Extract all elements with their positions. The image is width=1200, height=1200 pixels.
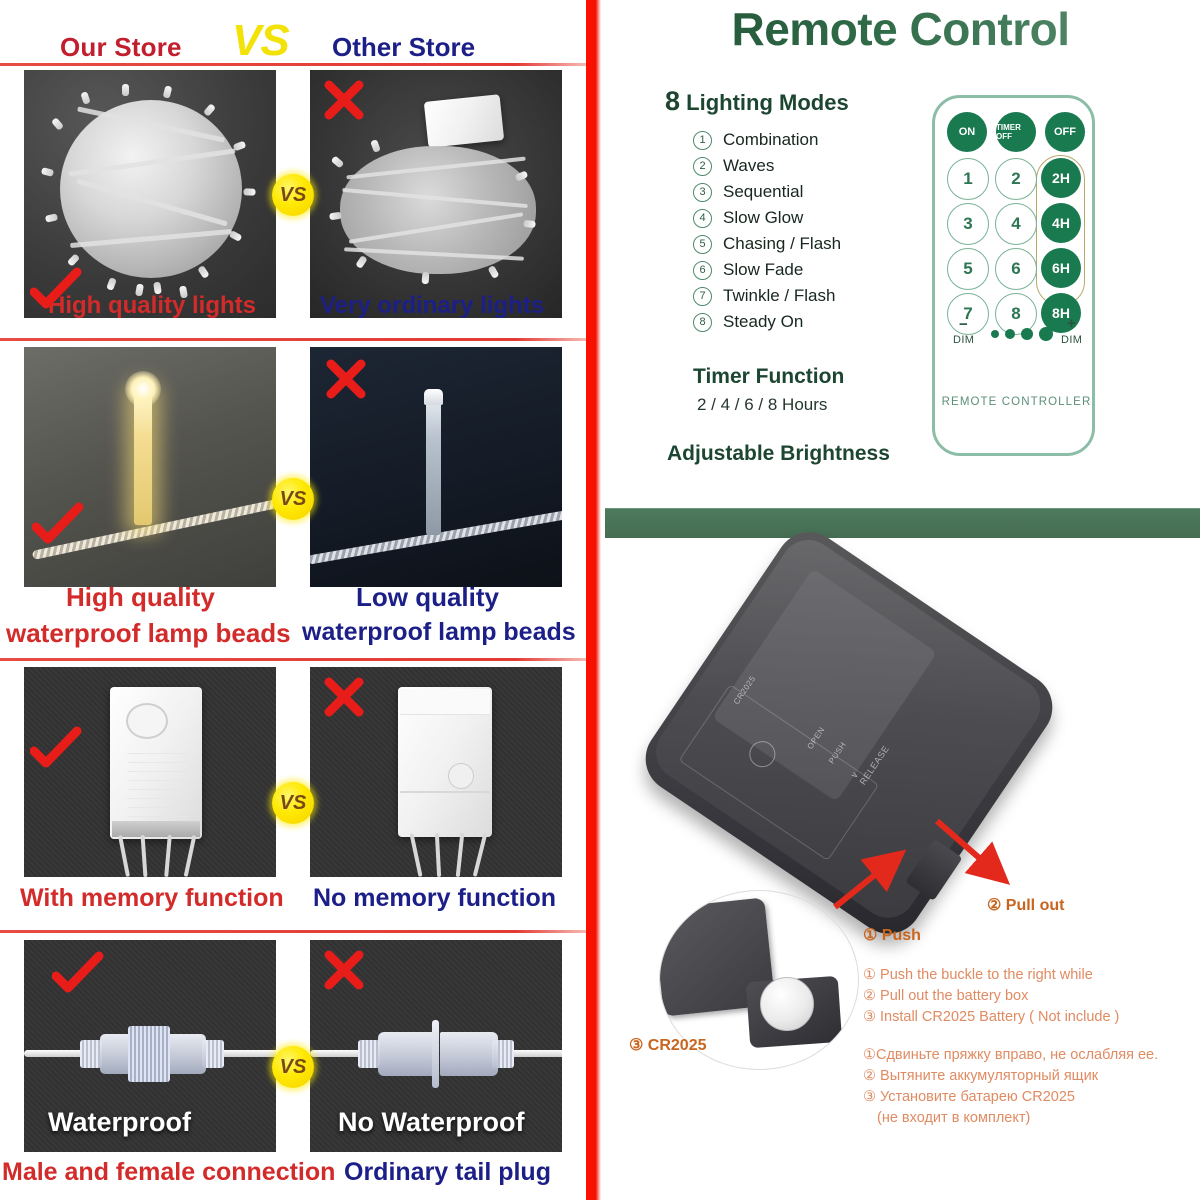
photo-waterproof-connector: Waterproof <box>24 940 276 1152</box>
remote-button-4[interactable]: 4 <box>995 203 1037 245</box>
header-vs-label: VS <box>232 16 289 66</box>
caption-bad-beads-line1: Low quality <box>356 582 499 613</box>
mode-item: 2 Waves <box>693 153 841 179</box>
photo-low-quality-bead <box>310 347 562 587</box>
comparison-row-beads: VS High quality waterproof lamp beads Lo… <box>0 342 586 650</box>
remote-footer-label: REMOTE CONTROLLER <box>935 396 1098 408</box>
remote-button-2[interactable]: 2 <box>995 158 1037 200</box>
vs-badge: VS <box>272 782 314 824</box>
remote-diagram: ON TIMER OFF OFF 1 2 2H 3 4 4H 5 6 6H 7 … <box>932 95 1095 456</box>
mode-number-badge: 5 <box>693 235 712 254</box>
check-mark-icon <box>30 266 82 314</box>
caption-good-beads-line2: waterproof lamp beads <box>6 618 291 649</box>
mode-number-badge: 2 <box>693 157 712 176</box>
cross-mark-icon <box>322 948 366 992</box>
vs-badge: VS <box>272 1046 314 1088</box>
remote-button-6h[interactable]: 6H <box>1041 248 1081 288</box>
remote-button-2h[interactable]: 2H <box>1041 158 1081 198</box>
mode-number-badge: 8 <box>693 313 712 332</box>
instruction-ru-line: ② Вытяните аккумуляторный ящик <box>863 1066 1158 1087</box>
remote-button-4h[interactable]: 4H <box>1041 203 1081 243</box>
our-store-title: Our Store <box>60 32 182 63</box>
mode-number-badge: 4 <box>693 209 712 228</box>
green-section-divider <box>605 508 1200 538</box>
comparison-row-waterproof: Waterproof No Waterproof VS Male and <box>0 934 586 1200</box>
instruction-en-line: ① Push the buckle to the right while <box>863 965 1119 986</box>
comparison-header: Our Store VS Other Store <box>0 10 586 62</box>
row-divider-3 <box>0 658 586 661</box>
vertical-red-divider <box>586 0 601 1200</box>
dim-level-dot-3 <box>1021 328 1033 340</box>
caption-bad-beads-line2: waterproof lamp beads <box>302 618 576 647</box>
lighting-modes-heading: 8 Lighting Modes <box>665 86 849 117</box>
row-divider-2 <box>0 338 586 341</box>
comparison-row-lights: VS High quality lights Very ordinary lig… <box>0 66 586 316</box>
step-cr2025-label: ③ CR2025 <box>629 1035 707 1055</box>
photo-ordinary-lights <box>310 70 562 318</box>
lighting-modes-count: 8 <box>665 86 680 116</box>
other-store-title: Other Store <box>332 32 475 63</box>
overlay-waterproof: Waterproof <box>48 1107 191 1138</box>
cross-mark-icon <box>322 78 366 122</box>
pull-out-arrow-icon <box>931 815 1031 900</box>
mode-item: 8 Steady On <box>693 309 841 335</box>
caption-with-memory: With memory function <box>20 884 284 913</box>
mode-item: 5 Chasing / Flash <box>693 231 841 257</box>
cross-mark-icon <box>324 357 368 401</box>
dim-level-dot-1 <box>991 330 999 338</box>
instruction-ru-line: (не входит в комплект) <box>863 1108 1158 1129</box>
mode-label: Chasing / Flash <box>723 234 841 254</box>
caption-bad-lights: Very ordinary lights <box>320 292 544 320</box>
instruction-ru-line: ①Сдвиньте пряжку вправо, не ослабляя ее. <box>863 1045 1158 1066</box>
remote-button-5[interactable]: 5 <box>947 248 989 290</box>
mode-number-badge: 6 <box>693 261 712 280</box>
mode-label: Combination <box>723 130 818 150</box>
caption-good-beads-line1: High quality <box>66 582 215 613</box>
infographic-page: Our Store VS Other Store <box>0 0 1200 1200</box>
vs-badge: VS <box>272 478 314 520</box>
mode-item: 7 Twinkle / Flash <box>693 283 841 309</box>
mode-label: Sequential <box>723 182 803 202</box>
check-mark-icon <box>52 950 104 998</box>
mode-label: Waves <box>723 156 774 176</box>
instructions-english: ① Push the buckle to the right while ② P… <box>863 965 1119 1028</box>
cross-mark-icon <box>322 675 366 719</box>
mode-item: 1 Combination <box>693 127 841 153</box>
remote-button-6[interactable]: 6 <box>995 248 1037 290</box>
photo-with-memory <box>24 667 276 877</box>
instruction-en-line: ③ Install CR2025 Battery ( Not include ) <box>863 1007 1119 1028</box>
dim-control-row: − DIM + DIM <box>945 316 1088 350</box>
lighting-modes-label: Lighting Modes <box>680 90 849 115</box>
mode-number-badge: 3 <box>693 183 712 202</box>
overlay-no-waterproof: No Waterproof <box>338 1107 524 1138</box>
battery-instruction-area: CR2025 OPEN PUSH ∨ RELEASE ① Push <box>601 545 1200 1200</box>
remote-button-3[interactable]: 3 <box>947 203 989 245</box>
push-arrow-icon <box>829 845 919 915</box>
timer-function-values: 2 / 4 / 6 / 8 Hours <box>697 395 827 415</box>
mode-item: 6 Slow Fade <box>693 257 841 283</box>
dim-level-dot-2 <box>1005 329 1015 339</box>
mode-number-badge: 7 <box>693 287 712 306</box>
instruction-en-line: ② Pull out the battery box <box>863 986 1119 1007</box>
mode-item: 4 Slow Glow <box>693 205 841 231</box>
photo-no-waterproof-connector: No Waterproof <box>310 940 562 1152</box>
photo-high-quality-lights <box>24 70 276 318</box>
dim-plus-label: DIM <box>1061 334 1082 346</box>
lighting-modes-list: 1 Combination 2 Waves 3 Sequential 4 Slo… <box>693 127 841 335</box>
step-push-label: ① Push <box>863 925 921 945</box>
adjustable-brightness-heading: Adjustable Brightness <box>667 442 890 466</box>
comparison-row-memory: VS With memory function No memory functi… <box>0 662 586 924</box>
mode-label: Slow Fade <box>723 260 803 280</box>
row-divider-4 <box>0 930 586 933</box>
remote-control-panel: Remote Control 8 Lighting Modes 1 Combin… <box>601 0 1200 1200</box>
photo-no-memory <box>310 667 562 877</box>
check-mark-icon <box>32 501 84 549</box>
timer-function-heading: Timer Function <box>693 365 844 389</box>
dim-plus-sign[interactable]: + <box>1067 315 1076 332</box>
mode-item: 3 Sequential <box>693 179 841 205</box>
remote-button-1[interactable]: 1 <box>947 158 989 200</box>
mode-label: Slow Glow <box>723 208 803 228</box>
remote-button-on[interactable]: ON <box>947 112 987 152</box>
dim-minus-label: DIM <box>953 334 974 346</box>
step-pullout-label: ② Pull out <box>987 895 1064 915</box>
check-mark-icon <box>30 725 82 773</box>
photo-high-quality-bead <box>24 347 276 587</box>
caption-male-female-connection: Male and female connection <box>2 1158 335 1187</box>
remote-button-off[interactable]: OFF <box>1045 112 1085 152</box>
caption-ordinary-tail-plug: Ordinary tail plug <box>344 1158 551 1187</box>
caption-no-memory: No memory function <box>313 884 556 913</box>
instructions-russian: ①Сдвиньте пряжку вправо, не ослабляя ее.… <box>863 1045 1158 1129</box>
remote-control-title: Remote Control <box>601 2 1200 56</box>
dim-minus-sign[interactable]: − <box>959 316 968 333</box>
mode-label: Twinkle / Flash <box>723 286 835 306</box>
comparison-panel: Our Store VS Other Store <box>0 0 586 1200</box>
vs-badge: VS <box>272 174 314 216</box>
remote-button-timer-off[interactable]: TIMER OFF <box>996 112 1036 152</box>
instruction-ru-line: ③ Установите батарею CR2025 <box>863 1087 1158 1108</box>
mode-number-badge: 1 <box>693 131 712 150</box>
mode-label: Steady On <box>723 312 803 332</box>
dim-level-dot-4 <box>1039 327 1053 341</box>
